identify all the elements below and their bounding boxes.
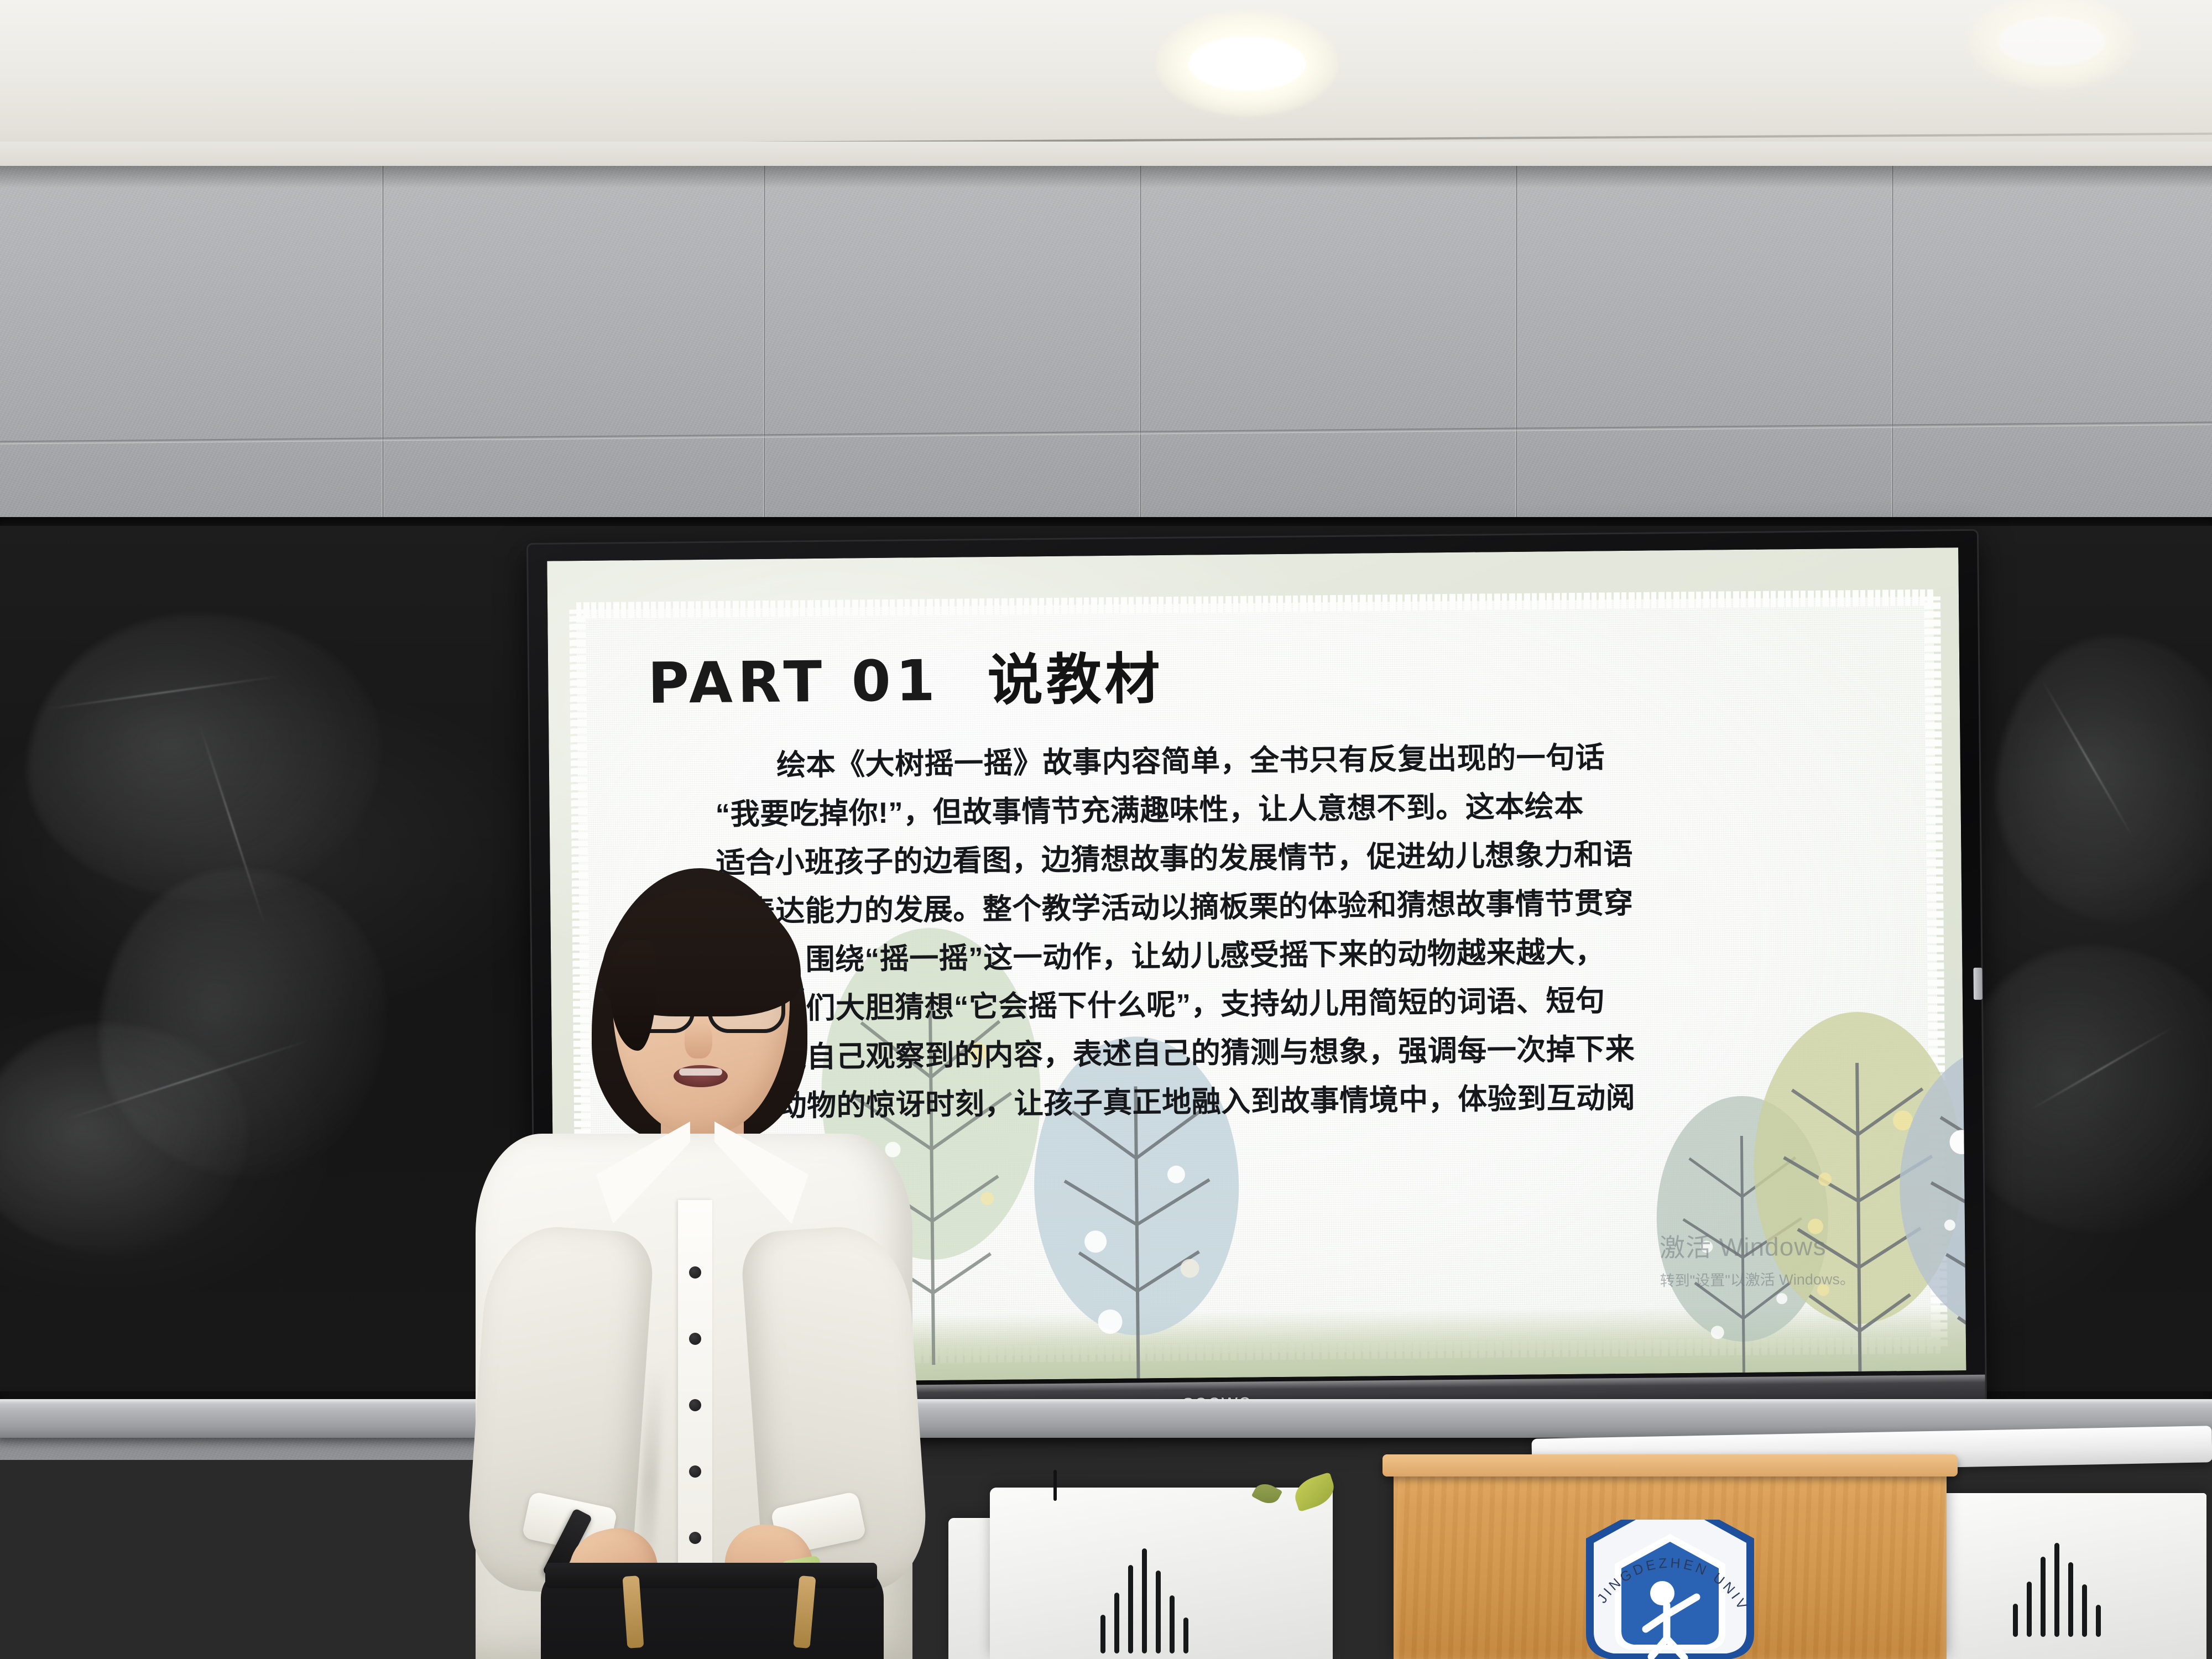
equipment-cabinet-right[interactable] [1930, 1493, 2206, 1659]
ceiling-downlight-icon [1156, 11, 1338, 116]
slide-section-title: 说教材 [987, 634, 1164, 716]
classroom-scene: PART 01 说教材 绘本《大树摇一摇》故事内容简单，全书只有反复出现的一句话… [0, 0, 2212, 1659]
slide-title-row: PART 01 说教材 [648, 634, 1164, 719]
ceiling-downlight-icon [1969, 0, 2135, 88]
cable [1053, 1470, 1057, 1501]
podium-top-edge [1383, 1454, 1958, 1477]
equipment-cabinet-left[interactable] [990, 1488, 1333, 1659]
display-side-port [1973, 968, 1983, 1000]
presenter [465, 846, 940, 1659]
slide-part-label: PART 01 [648, 648, 940, 717]
ceiling [0, 0, 2212, 166]
university-emblem: JINGDEZHEN UNIVERSITY [1548, 1520, 1792, 1659]
watermark-line-2: 转到"设置"以激活 Windows。 [1660, 1267, 1855, 1290]
mouth [674, 1065, 728, 1087]
tree-decoration-right-3 [1890, 1032, 1966, 1384]
acoustic-panel-wall [0, 166, 2212, 531]
belt [545, 1563, 877, 1588]
windows-activation-watermark: 激活 Windows 转到"设置"以激活 Windows。 [1660, 1226, 1855, 1290]
watermark-line-1: 激活 Windows [1660, 1226, 1855, 1264]
nose [685, 1022, 712, 1058]
